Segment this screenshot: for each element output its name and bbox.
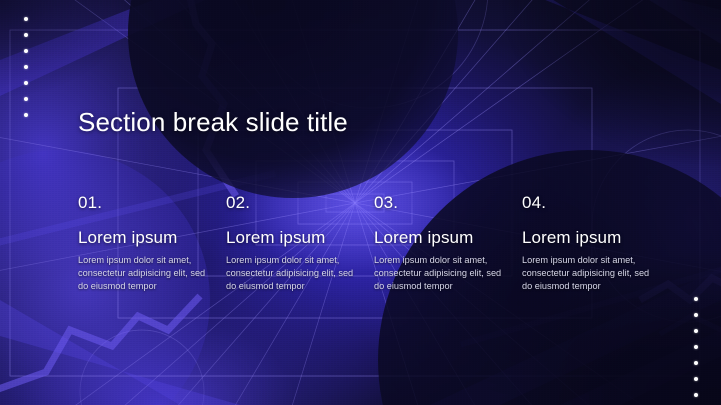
dot-marker (694, 297, 698, 301)
dot-marker (694, 329, 698, 333)
dot-marker (24, 113, 28, 117)
content-column-03: 03. Lorem ipsum Lorem ipsum dolor sit am… (374, 193, 522, 294)
dot-marker (694, 345, 698, 349)
dot-marker (24, 81, 28, 85)
content-column-04: 04. Lorem ipsum Lorem ipsum dolor sit am… (522, 193, 670, 294)
column-heading: Lorem ipsum (374, 228, 522, 248)
column-number: 01. (78, 193, 226, 213)
left-dot-column (24, 17, 28, 129)
dot-marker (24, 97, 28, 101)
section-break-slide: Section break slide title 01. Lorem ipsu… (0, 0, 721, 405)
column-heading: Lorem ipsum (78, 228, 226, 248)
column-body: Lorem ipsum dolor sit amet, consectetur … (78, 254, 208, 294)
column-body: Lorem ipsum dolor sit amet, consectetur … (226, 254, 356, 294)
dot-marker (694, 393, 698, 397)
content-column-02: 02. Lorem ipsum Lorem ipsum dolor sit am… (226, 193, 374, 294)
dot-marker (694, 377, 698, 381)
column-body: Lorem ipsum dolor sit amet, consectetur … (522, 254, 652, 294)
column-body: Lorem ipsum dolor sit amet, consectetur … (374, 254, 504, 294)
content-columns: 01. Lorem ipsum Lorem ipsum dolor sit am… (78, 193, 670, 294)
dot-marker (24, 49, 28, 53)
dot-marker (24, 17, 28, 21)
column-number: 04. (522, 193, 670, 213)
column-heading: Lorem ipsum (522, 228, 670, 248)
dot-marker (694, 313, 698, 317)
column-number: 03. (374, 193, 522, 213)
column-number: 02. (226, 193, 374, 213)
slide-title: Section break slide title (78, 107, 348, 138)
right-dot-column (694, 297, 698, 405)
dot-marker (694, 361, 698, 365)
content-column-01: 01. Lorem ipsum Lorem ipsum dolor sit am… (78, 193, 226, 294)
dot-marker (24, 33, 28, 37)
dot-marker (24, 65, 28, 69)
column-heading: Lorem ipsum (226, 228, 374, 248)
